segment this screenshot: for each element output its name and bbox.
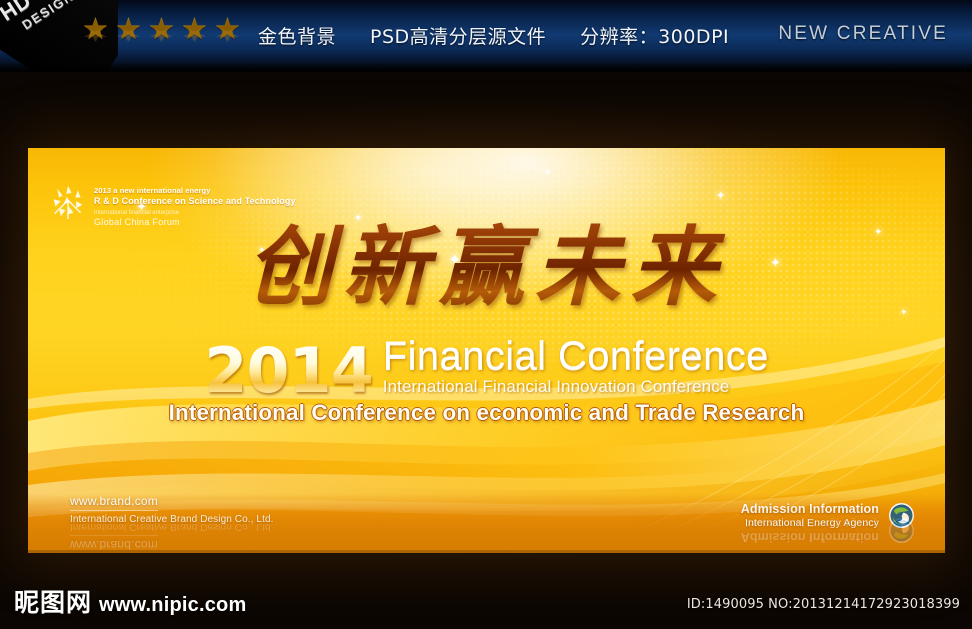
page-root: HD DESIGN ★ ★ ★ ★ ★ ★ ★ ★ ★ ★: [0, 0, 972, 629]
admission-text: Admission Information International Ener…: [741, 502, 879, 529]
header-tag-format: PSD高清分层源文件: [370, 22, 546, 49]
admission-agency: International Energy Agency: [741, 517, 879, 529]
poster-admission-block: Admission Information International Ener…: [741, 502, 915, 529]
poster-title-row: 2014 Financial Conference International …: [28, 336, 945, 400]
brand-company: International Creative Brand Design Co.,…: [70, 514, 274, 525]
conference-logo-icon: [50, 183, 86, 221]
image-id-line: ID:1490095 NO:20131214172923018399: [687, 597, 960, 612]
site-watermark: 昵图网 www.nipic.com: [14, 583, 246, 619]
star-reflection-icon: ★: [148, 26, 175, 43]
watermark-chinese-label: 昵图网: [14, 583, 92, 619]
top-header-bar: HD DESIGN ★ ★ ★ ★ ★ ★ ★ ★ ★ ★: [0, 0, 972, 72]
header-tag-background: 金色背景: [258, 22, 336, 49]
new-creative-label: NEW CREATIVE: [778, 23, 948, 45]
poster-main-title: Financial Conference: [383, 336, 769, 376]
star-item: ★ ★: [148, 16, 179, 56]
watermark-url: www.nipic.com: [99, 594, 246, 617]
globe-icon: [888, 502, 915, 529]
star-item: ★ ★: [115, 16, 146, 56]
header-tag-list: 金色背景 PSD高清分层源文件 分辨率：300DPI: [258, 22, 729, 49]
star-rating: ★ ★ ★ ★ ★ ★ ★ ★ ★ ★: [82, 16, 245, 56]
brand-url: www.brand.com: [70, 494, 158, 511]
star-reflection-icon: ★: [82, 26, 109, 43]
admission-title: Admission Information: [741, 502, 879, 516]
star-item: ★ ★: [181, 16, 212, 56]
star-reflection-icon: ★: [214, 26, 241, 43]
chinese-calligraphy-title: 创新赢未来: [28, 220, 945, 316]
star-item: ★ ★: [82, 16, 113, 56]
poster-brand-block: www.brand.com International Creative Bra…: [70, 492, 274, 525]
poster-title-column: Financial Conference International Finan…: [383, 336, 769, 400]
logo-line-2: R & D Conference on Science and Technolo…: [94, 196, 296, 207]
star-reflection-icon: ★: [181, 26, 208, 43]
poster-tagline: International Conference on economic and…: [28, 400, 945, 426]
logo-line-1: 2013 a new international energy: [94, 186, 296, 196]
star-reflection-icon: ★: [115, 26, 142, 43]
star-item: ★ ★: [214, 16, 245, 56]
poster-artwork: ✦ ✦ ✦ ✦ ✦ ✦ ✦ ✦ ✦ ✦: [28, 148, 945, 553]
logo-line-3: International financial enterprise: [94, 209, 296, 217]
poster-bottom-edge: [28, 550, 945, 553]
poster-sub-title: International Financial Innovation Confe…: [383, 377, 769, 397]
poster-year: 2014: [204, 342, 373, 400]
header-tag-resolution: 分辨率：300DPI: [580, 22, 729, 49]
